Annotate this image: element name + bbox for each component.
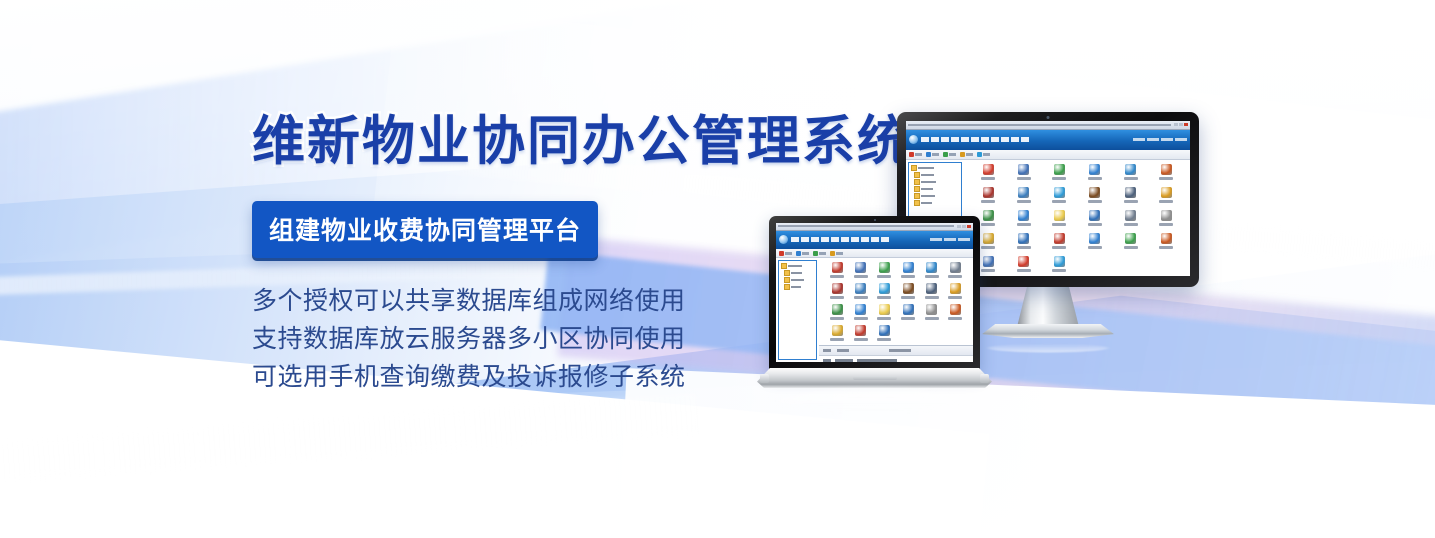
module-icon-button[interactable] [849, 262, 873, 278]
module-icon-button[interactable] [1148, 210, 1184, 226]
module-icon [879, 304, 890, 315]
laptop-lid [769, 216, 980, 371]
module-icon [1125, 164, 1136, 175]
module-icon-button[interactable] [970, 187, 1006, 203]
module-icon-button[interactable] [873, 283, 897, 299]
module-icon [1054, 164, 1065, 175]
module-icon-button[interactable] [1006, 233, 1042, 249]
laptop-trackpad [853, 376, 897, 380]
module-icon-label [1017, 269, 1031, 272]
module-icon [1125, 210, 1136, 221]
module-icon-label [901, 275, 915, 278]
tree-node[interactable] [911, 179, 959, 185]
module-icon [1161, 233, 1172, 244]
module-icon-button[interactable] [1148, 164, 1184, 180]
menu-item[interactable] [841, 237, 849, 242]
window-controls [1174, 123, 1188, 126]
module-icon-label [948, 296, 962, 299]
module-icon-label [925, 275, 939, 278]
module-icon [879, 283, 890, 294]
minimize-icon[interactable] [1174, 123, 1178, 126]
menu-item[interactable] [851, 237, 859, 242]
module-icon [1054, 210, 1065, 221]
module-icon-label [1088, 200, 1102, 203]
app-header-links[interactable] [1133, 138, 1187, 141]
laptop-reflection [773, 390, 976, 414]
module-icon-button[interactable] [943, 304, 967, 320]
module-icon-label [830, 338, 844, 341]
module-icon-button[interactable] [1148, 187, 1184, 203]
window-title-text [778, 225, 954, 227]
module-icon-button[interactable] [1006, 164, 1042, 180]
module-icon [879, 325, 890, 336]
window-controls [957, 225, 971, 228]
module-icon-button[interactable] [1042, 164, 1078, 180]
module-icon [1018, 210, 1029, 221]
toolbar-button[interactable] [960, 152, 973, 157]
tree-node[interactable] [911, 186, 959, 192]
module-icon [1054, 233, 1065, 244]
app-menu-bar[interactable] [921, 137, 1133, 142]
menu-item[interactable] [931, 137, 939, 142]
maximize-icon[interactable] [1179, 123, 1183, 126]
module-icon-button[interactable] [825, 283, 849, 299]
module-icon-label [1159, 200, 1173, 203]
module-icon-label [1159, 246, 1173, 249]
module-icon-label [981, 177, 995, 180]
module-icon-button[interactable] [943, 283, 967, 299]
module-icon [1161, 210, 1172, 221]
module-icon-button[interactable] [1113, 187, 1149, 203]
module-icon-button[interactable] [1077, 210, 1113, 226]
module-icon-label [854, 338, 868, 341]
module-icon [983, 187, 994, 198]
module-icon-label [854, 296, 868, 299]
module-icon-label [1124, 246, 1138, 249]
module-icon-label [877, 338, 891, 341]
tree-node[interactable] [911, 200, 959, 206]
module-icon [950, 283, 961, 294]
module-icon-button[interactable] [1077, 164, 1113, 180]
module-icon [832, 262, 843, 273]
module-icon-button[interactable] [1148, 233, 1184, 249]
monitor-stand-neck [1017, 287, 1079, 327]
menu-item[interactable] [861, 237, 869, 242]
menu-item[interactable] [921, 137, 929, 142]
menu-item[interactable] [1021, 137, 1029, 142]
toolbar-button[interactable] [813, 251, 826, 256]
tree-node[interactable] [911, 165, 959, 171]
module-icon-button[interactable] [896, 304, 920, 320]
module-icon-button[interactable] [920, 304, 944, 320]
menu-item[interactable] [1011, 137, 1019, 142]
module-icon-label [925, 317, 939, 320]
module-icon [903, 283, 914, 294]
module-icon-button[interactable] [825, 262, 849, 278]
module-icon [926, 283, 937, 294]
tree-node[interactable] [781, 263, 814, 269]
tree-node[interactable] [781, 284, 814, 290]
menu-item[interactable] [951, 137, 959, 142]
module-icon [1018, 233, 1029, 244]
module-icon [832, 283, 843, 294]
module-icon-label [1159, 223, 1173, 226]
monitor-stand-base [982, 324, 1114, 338]
module-icon-button[interactable] [920, 283, 944, 299]
module-icon [855, 262, 866, 273]
menu-item[interactable] [1001, 137, 1009, 142]
list-header [819, 346, 973, 356]
toolbar-button[interactable] [909, 152, 922, 157]
module-icon [1018, 164, 1029, 175]
module-icon-button[interactable] [849, 304, 873, 320]
toolbar-button[interactable] [977, 152, 990, 157]
app-toolbar[interactable] [906, 150, 1190, 160]
webcam-icon [1047, 116, 1050, 119]
module-icon-label [1159, 177, 1173, 180]
menu-item[interactable] [791, 237, 799, 242]
module-icon [950, 304, 961, 315]
menu-item[interactable] [821, 237, 829, 242]
promo-banner: 维新物业协同办公管理系统 组建物业收费协同管理平台 多个授权可以共享数据库组成网… [0, 0, 1435, 538]
header-link[interactable] [1133, 138, 1145, 141]
laptop-screen [776, 223, 973, 362]
table-row[interactable] [819, 356, 973, 362]
header-link[interactable] [1161, 138, 1173, 141]
header-link[interactable] [1147, 138, 1159, 141]
module-icon-label [854, 317, 868, 320]
module-icon-button[interactable] [825, 325, 849, 341]
module-icon [879, 262, 890, 273]
module-icon [1089, 164, 1100, 175]
module-icon-label [948, 275, 962, 278]
header-link[interactable] [1175, 138, 1187, 141]
monitor-reflection [988, 344, 1108, 353]
menu-item[interactable] [801, 237, 809, 242]
module-icon-button[interactable] [1042, 256, 1078, 272]
records-list-panel[interactable] [819, 345, 973, 362]
module-icon-button[interactable] [1077, 187, 1113, 203]
header-link[interactable] [958, 238, 970, 241]
module-icon [1125, 187, 1136, 198]
laptop-computer [757, 216, 992, 396]
module-icon-label [1124, 223, 1138, 226]
module-icon [1125, 233, 1136, 244]
app-header-banner [906, 130, 1190, 150]
app-logo-icon [779, 235, 788, 244]
module-icon-button[interactable] [1113, 233, 1149, 249]
menu-item[interactable] [831, 237, 839, 242]
module-icon-button[interactable] [1006, 210, 1042, 226]
app-menu-bar[interactable] [791, 237, 930, 242]
menu-item[interactable] [981, 137, 989, 142]
close-icon[interactable] [1184, 123, 1188, 126]
menu-item[interactable] [871, 237, 879, 242]
module-icon-label [1052, 200, 1066, 203]
module-icon-button[interactable] [849, 325, 873, 341]
module-icon-label [981, 200, 995, 203]
menu-item[interactable] [991, 137, 999, 142]
module-icon-button[interactable] [1113, 164, 1149, 180]
module-icon-button[interactable] [1042, 187, 1078, 203]
module-icon-label [901, 317, 915, 320]
tree-node[interactable] [781, 270, 814, 276]
module-icon [855, 325, 866, 336]
page-title: 维新物业协同办公管理系统 [252, 112, 892, 171]
app-toolbar[interactable] [776, 249, 973, 258]
module-icon [1054, 256, 1065, 267]
tagline-badge: 组建物业收费协同管理平台 [252, 201, 598, 258]
window-titlebar [776, 223, 973, 231]
laptop-corner-left [760, 374, 769, 383]
minimize-icon[interactable] [957, 225, 961, 228]
app-window-laptop [776, 223, 973, 362]
module-icon-label [925, 296, 939, 299]
app-header-banner [776, 231, 973, 249]
module-icon [903, 262, 914, 273]
module-icon-grid[interactable] [819, 258, 973, 345]
module-icon-button[interactable] [896, 283, 920, 299]
module-icon [1018, 256, 1029, 267]
module-icon-label [1017, 177, 1031, 180]
module-icon [926, 304, 937, 315]
module-icon-button[interactable] [825, 304, 849, 320]
menu-item[interactable] [961, 137, 969, 142]
module-icon-button[interactable] [1006, 256, 1042, 272]
module-icon [903, 304, 914, 315]
module-icon-label [1088, 223, 1102, 226]
window-titlebar [906, 121, 1190, 130]
module-icon-button[interactable] [873, 262, 897, 278]
module-icon-label [1017, 246, 1031, 249]
module-icon-button[interactable] [1042, 210, 1078, 226]
menu-item[interactable] [941, 137, 949, 142]
toolbar-button[interactable] [943, 152, 956, 157]
toolbar-button[interactable] [779, 251, 792, 256]
module-icon-button[interactable] [849, 283, 873, 299]
app-header-links[interactable] [930, 238, 970, 241]
module-icon [1018, 187, 1029, 198]
window-title-text [908, 124, 1171, 126]
module-icon-button[interactable] [896, 262, 920, 278]
app-body [776, 258, 973, 362]
module-icon [855, 283, 866, 294]
module-icon-label [830, 296, 844, 299]
module-icon-button[interactable] [920, 262, 944, 278]
module-icon-label [1017, 200, 1031, 203]
module-icon-label [1052, 269, 1066, 272]
app-main-area [819, 258, 973, 362]
module-icon-button[interactable] [1077, 233, 1113, 249]
module-icon [1161, 164, 1172, 175]
module-icon-label [1088, 177, 1102, 180]
module-icon [1161, 187, 1172, 198]
app-main-area [964, 160, 1190, 276]
laptop-corner-right [980, 374, 989, 383]
toolbar-button[interactable] [926, 152, 939, 157]
module-icon [950, 262, 961, 273]
toolbar-button[interactable] [830, 251, 843, 256]
header-link[interactable] [944, 238, 956, 241]
module-icon [855, 304, 866, 315]
module-icon-label [1124, 177, 1138, 180]
header-link[interactable] [930, 238, 942, 241]
module-icon-label [1017, 223, 1031, 226]
module-icon-label [877, 296, 891, 299]
module-icon-label [877, 275, 891, 278]
tree-node[interactable] [781, 277, 814, 283]
module-icon-button[interactable] [1006, 187, 1042, 203]
module-icon [1054, 187, 1065, 198]
module-icon-label [948, 317, 962, 320]
module-icon-button[interactable] [1113, 210, 1149, 226]
webcam-icon [874, 219, 876, 221]
module-icon-button[interactable] [873, 304, 897, 320]
app-logo-icon [909, 135, 918, 144]
close-icon[interactable] [967, 225, 971, 228]
module-icon-label [877, 317, 891, 320]
module-icon-button[interactable] [970, 164, 1006, 180]
module-icon-label [830, 317, 844, 320]
module-icon-label [830, 275, 844, 278]
module-icon-button[interactable] [1042, 233, 1078, 249]
tree-node[interactable] [911, 172, 959, 178]
menu-item[interactable] [881, 237, 889, 242]
module-icon-label [901, 296, 915, 299]
module-icon-label [1088, 246, 1102, 249]
toolbar-button[interactable] [796, 251, 809, 256]
module-icon [832, 325, 843, 336]
module-icon-label [1052, 223, 1066, 226]
module-icon-grid[interactable] [964, 160, 1190, 276]
menu-item[interactable] [811, 237, 819, 242]
module-icon-label [1124, 200, 1138, 203]
module-icon [832, 304, 843, 315]
module-icon-label [1052, 177, 1066, 180]
tree-node[interactable] [911, 193, 959, 199]
module-icon-button[interactable] [943, 262, 967, 278]
module-icon [1089, 210, 1100, 221]
menu-item[interactable] [971, 137, 979, 142]
module-icon [926, 262, 937, 273]
maximize-icon[interactable] [962, 225, 966, 228]
module-icon [1089, 233, 1100, 244]
module-icon [983, 164, 994, 175]
module-icon-button[interactable] [873, 325, 897, 341]
module-icon-label [1052, 246, 1066, 249]
module-icon-label [854, 275, 868, 278]
navigation-tree-panel[interactable] [778, 260, 817, 360]
module-icon [1089, 187, 1100, 198]
